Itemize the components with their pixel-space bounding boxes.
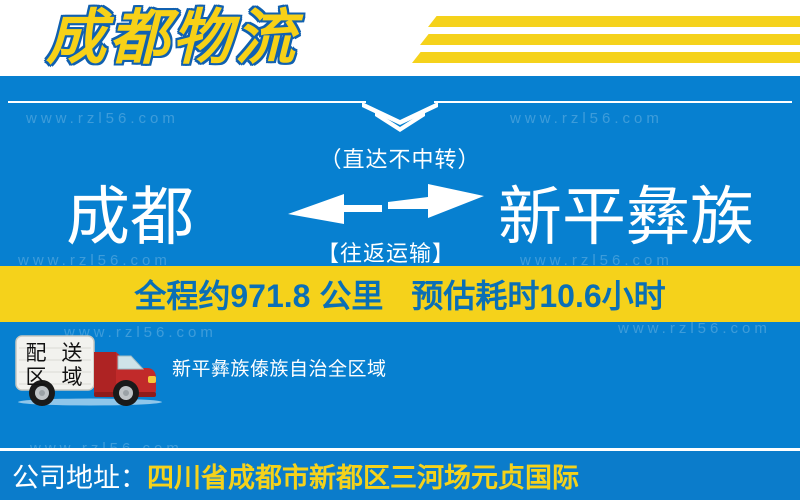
divider-line-right [434, 101, 792, 103]
banner-header: 成都物流 [0, 0, 800, 76]
delivery-area-text: 新平彝族傣族自治全区域 [172, 354, 387, 381]
distance-value: 全程约971.8 公里 [134, 271, 383, 317]
truck-box-char-4: 域 [62, 366, 83, 389]
main-panel: www.rzl56.com www.rzl56.com www.rzl56.co… [0, 76, 800, 500]
decorative-stripes [420, 16, 800, 68]
divider-line-left [8, 101, 366, 103]
round-trip-note: 【往返运输】 [268, 236, 504, 268]
stripe-1 [428, 16, 800, 27]
stripe-3 [412, 52, 800, 63]
chevron-down-icon [362, 98, 438, 142]
origin-city: 成都 [66, 176, 194, 258]
logistics-banner: 成都物流 www.rzl56.com www.rzl56.com www.rzl… [0, 0, 800, 500]
direct-route-note: （直达不中转） [0, 142, 800, 174]
page-title: 成都物流 [46, 2, 298, 74]
duration-value: 预估耗时10.6小时 [411, 271, 665, 317]
route-row: 成都 新平彝族 【往返运输】 [0, 176, 800, 266]
trip-info-bar: 全程约971.8 公里 预估耗时10.6小时 [0, 266, 800, 322]
stripe-2 [420, 34, 800, 45]
footer-bar: 公司地址： 四川省成都市新都区三河场元贞国际 [0, 451, 800, 500]
delivery-truck-icon: 配 送 区 域 [12, 332, 162, 408]
truck-box-char-3: 区 [26, 366, 47, 389]
destination-city: 新平彝族 [498, 176, 754, 258]
truck-box-char-1: 配 [26, 342, 47, 365]
address-label: 公司地址： [12, 456, 147, 495]
address-value: 四川省成都市新都区三河场元贞国际 [147, 456, 579, 495]
bidirectional-arrow-icon [288, 184, 484, 232]
divider [0, 98, 800, 142]
delivery-area-row: 配 送 区 域 新平彝族傣族自治全区域 [0, 332, 800, 412]
truck-box-char-2: 送 [62, 342, 83, 365]
